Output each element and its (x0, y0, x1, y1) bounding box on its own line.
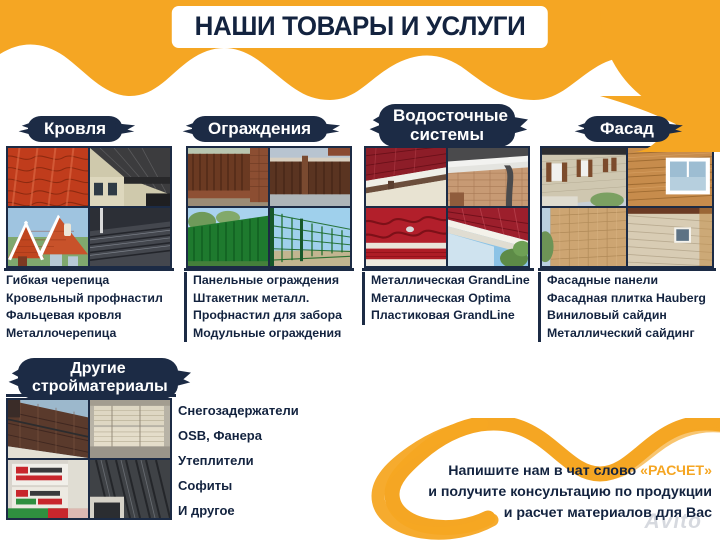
list-other-materials: Снегозадержатели OSB, Фанера Утеплители … (176, 398, 356, 523)
list-facade: Фасадные панели Фасадная плитка Hauberg … (538, 272, 718, 342)
photo-grid-fencing (186, 146, 352, 268)
list-item: Фасадные панели (547, 272, 718, 290)
list-item: Металлическая Optima (371, 290, 540, 308)
list-item: Штакетник металл. (193, 290, 358, 308)
photo-green-mesh-fence (270, 208, 350, 266)
cta-highlight-word: «РАСЧЕТ» (640, 463, 712, 479)
photo-white-gutter-brick-wall (448, 148, 528, 206)
cta-line-1: Напишите нам в чат слово «РАСЧЕТ» (428, 461, 712, 482)
list-item: Виниловый сайдин (547, 307, 718, 325)
photo-dark-standing-seam-roof (90, 208, 170, 266)
list-item: Утеплители (178, 448, 356, 473)
photo-grid-other-materials (6, 398, 172, 520)
category-badge-fencing: Ограждения (192, 116, 327, 142)
list-item: Пластиковая GrandLine (371, 307, 540, 325)
list-item: Кровельный профнастил (6, 290, 176, 308)
category-badge-roofing-label: Кровля (28, 116, 122, 142)
list-item: И другое (178, 498, 356, 523)
divider-roofing (4, 268, 174, 271)
category-badge-roofing: Кровля (28, 116, 122, 142)
divider-fencing (184, 268, 354, 271)
page-title: НАШИ ТОВАРЫ И УСЛУГИ (195, 11, 526, 42)
category-badge-facade-label: Фасад (584, 116, 670, 142)
photo-brown-roof-snowguard (8, 400, 88, 458)
photo-green-profile-fence (188, 208, 268, 266)
list-item: Фасадная плитка Hauberg (547, 290, 718, 308)
photo-stone-facade-house (542, 148, 626, 206)
cta-line-2: и получите консультацию по продукции (428, 482, 712, 503)
photo-osb-plywood-stack (90, 400, 170, 458)
photo-beige-siding-house (628, 208, 712, 266)
list-item: OSB, Фанера (178, 423, 356, 448)
photo-insulation-packs-technonicol (8, 460, 88, 518)
cta-line-1-prefix: Напишите нам в чат слово (448, 463, 640, 479)
list-fencing: Панельные ограждения Штакетник металл. П… (184, 272, 358, 342)
category-badge-other-materials-label: Другие стройматериалы (18, 358, 178, 399)
list-roofing: Гибкая черепица Кровельный профнастил Фа… (4, 272, 176, 342)
list-item: Гибкая черепица (6, 272, 176, 290)
list-item: Профнастил для забора (193, 307, 358, 325)
category-badge-drainage-label: Водосточные системы (379, 104, 515, 147)
category-badge-fencing-label: Ограждения (192, 116, 327, 142)
list-item: Снегозадержатели (178, 398, 356, 423)
photo-grid-roofing (6, 146, 172, 268)
category-badge-other-materials: Другие стройматериалы (8, 358, 188, 399)
page-title-badge: НАШИ ТОВАРЫ И УСЛУГИ (172, 6, 548, 48)
list-item: Металлочерепица (6, 325, 176, 343)
category-badge-drainage: Водосточные системы (372, 104, 522, 147)
avito-watermark: Avito (645, 510, 703, 534)
photo-red-roof-brown-gutter (366, 148, 446, 206)
list-item: Металлический сайдинг (547, 325, 718, 343)
photo-brown-profile-fence (270, 148, 350, 206)
list-item: Модульные ограждения (193, 325, 358, 343)
divider-facade (538, 268, 716, 271)
photo-grid-drainage (364, 146, 530, 268)
list-item: Фальцевая кровля (6, 307, 176, 325)
photo-brick-facade-wall (542, 208, 626, 266)
divider-drainage (362, 268, 534, 271)
photo-red-tile-roof (8, 148, 88, 206)
photo-brown-picket-fence-brick (188, 148, 268, 206)
list-drainage: Металлическая GrandLine Металлическая Op… (362, 272, 540, 325)
list-item: Панельные ограждения (193, 272, 358, 290)
photo-red-tile-roof-gutter (448, 208, 528, 266)
photo-red-gutter-closeup (366, 208, 446, 266)
photo-wood-siding-window (628, 148, 712, 206)
category-badge-facade: Фасад (584, 116, 670, 142)
list-item: Металлическая GrandLine (371, 272, 540, 290)
photo-dark-metal-panel (90, 460, 170, 518)
photo-dark-metal-roof-house (90, 148, 170, 206)
photo-grid-facade (540, 146, 714, 268)
list-item: Софиты (178, 473, 356, 498)
photo-red-shingle-house (8, 208, 88, 266)
